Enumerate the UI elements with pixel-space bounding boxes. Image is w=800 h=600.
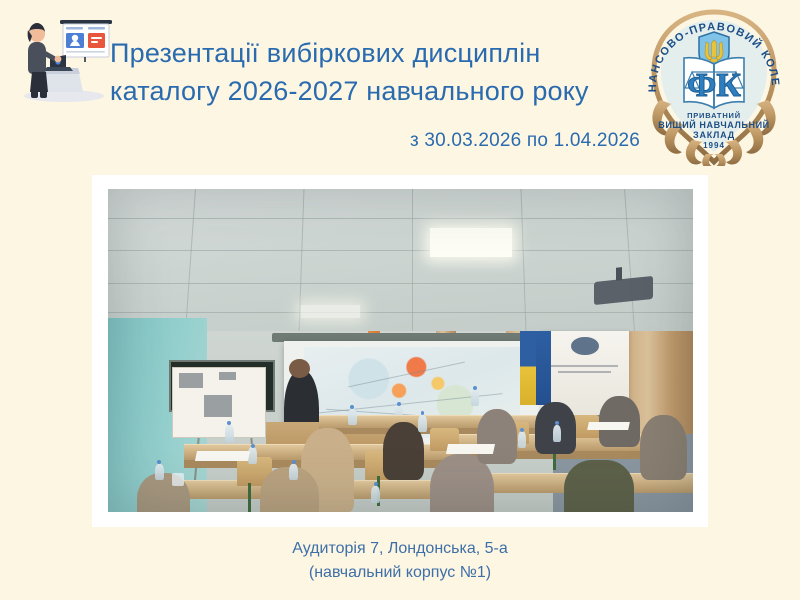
ceiling-light (430, 228, 512, 257)
page-title: Презентації вибіркових дисциплін каталог… (110, 34, 650, 110)
paper-sheet (587, 422, 630, 430)
presenter-at-podium-illustration (14, 12, 114, 104)
college-emblem: ФІНАНСОВО-ПРАВОВИЙ КОЛЕДЖ Ф (640, 4, 788, 166)
banner-text-line (551, 365, 618, 367)
flipchart-note (204, 395, 231, 417)
header: Презентації вибіркових дисциплін каталог… (0, 0, 800, 172)
map-line (349, 362, 466, 388)
emblem-line-2: ВИЩИЙ НАВЧАЛЬНИЙ (658, 119, 770, 130)
ukrainian-trident-icon (705, 40, 723, 62)
flipchart (172, 367, 266, 438)
drinking-glass (172, 473, 184, 486)
water-bottle (289, 464, 298, 481)
classroom-photo (108, 189, 693, 512)
student (564, 460, 634, 512)
water-bottle (371, 486, 380, 503)
water-bottle (348, 409, 357, 426)
water-bottle (518, 431, 527, 448)
title-line-2: каталогу 2026-2027 навчального року (110, 72, 650, 110)
title-line-1: Презентації вибіркових дисциплін (110, 34, 650, 72)
ukraine-flag (536, 331, 551, 405)
caption-line-2: (навчальний корпус №1) (0, 561, 800, 585)
ceiling-light (301, 305, 360, 318)
water-bottle (225, 425, 234, 442)
ceiling-grid-line (412, 189, 413, 331)
water-bottle (248, 447, 257, 464)
ceiling-grid-line (108, 218, 693, 219)
water-bottle (471, 389, 480, 406)
ceiling-grid-line (108, 250, 693, 251)
paper-sheet (446, 444, 495, 454)
emblem-line-1: ПРИВАТНИЙ (687, 111, 741, 120)
emblem-monogram: ФК (687, 67, 741, 104)
water-bottle (553, 425, 562, 442)
paper-sheet (195, 451, 250, 461)
venue-caption: Аудиторія 7, Лондонська, 5-а (навчальний… (0, 537, 800, 585)
emblem-year: 1994 (703, 141, 725, 150)
ukraine-flag (520, 331, 535, 405)
banner-text-line (558, 371, 611, 373)
photo-frame (92, 175, 708, 527)
date-range: з 30.03.2026 по 1.04.2026 (110, 130, 640, 152)
emblem-line-3: ЗАКЛАД (693, 130, 735, 140)
banner-logo (571, 337, 599, 355)
flipchart-note (179, 373, 203, 388)
water-bottle (155, 464, 164, 481)
chair-leg (248, 483, 251, 512)
caption-line-1: Аудиторія 7, Лондонська, 5-а (0, 537, 800, 561)
student (477, 409, 518, 464)
flipchart-note (219, 372, 235, 380)
student (640, 415, 687, 480)
water-bottle (418, 415, 427, 432)
ceiling-grid-line (108, 312, 693, 313)
